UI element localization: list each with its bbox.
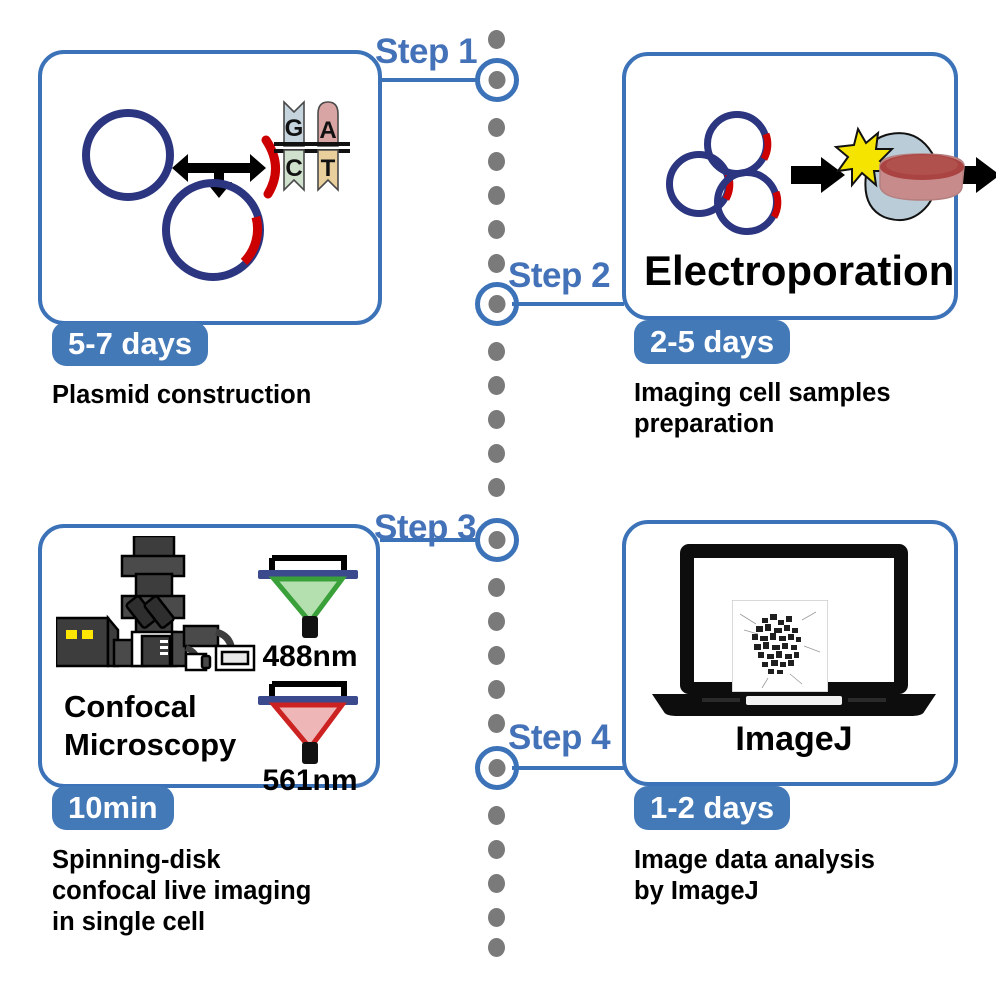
timeline-dot (488, 840, 505, 859)
step4-caption: Image data analysis by ImageJ (634, 845, 875, 907)
timeline-dot (488, 478, 505, 497)
step3-card-title: Confocal Microscopy (64, 688, 234, 764)
timeline-dot (488, 118, 505, 137)
microscope-icon (56, 536, 256, 681)
objective-lens-icon-488 (250, 550, 370, 646)
step-label-1: Step 1 (375, 32, 477, 72)
plasmid-circle-empty-icon (82, 109, 174, 201)
step4-card-title: ImageJ (644, 720, 944, 759)
timeline-dot (488, 612, 505, 631)
timeline-node-step3[interactable] (475, 518, 519, 562)
timeline-dot (488, 376, 505, 395)
connector-step4 (512, 766, 624, 770)
step-label-4: Step 4 (508, 718, 610, 758)
step3-caption: Spinning-disk confocal live imaging in s… (52, 845, 311, 938)
timeline-dot (488, 410, 505, 429)
timeline-dot (488, 714, 505, 733)
svg-text:G: G (285, 115, 304, 142)
timeline-dot (488, 578, 505, 597)
timeline-dot (488, 646, 505, 665)
dna-basepair-icon: G A C T (272, 94, 382, 202)
step3-duration-badge: 10min (52, 786, 174, 830)
timeline-axis (481, 30, 513, 960)
timeline-dot (488, 186, 505, 205)
timeline-dot (488, 908, 505, 927)
timeline-node-step1[interactable] (475, 58, 519, 102)
petri-dish-icon (876, 148, 976, 214)
microscopy-thumbnail-icon (732, 600, 828, 692)
step-label-3: Step 3 (374, 508, 476, 548)
workflow-diagram: Step 1 G A C T (0, 0, 996, 996)
timeline-dot (488, 874, 505, 893)
step4-duration-badge: 1-2 days (634, 786, 790, 830)
laser-561-label: 561nm (250, 764, 370, 798)
plasmid-insert-arc-icon (714, 169, 782, 237)
laser-488-label: 488nm (250, 640, 370, 674)
step2-card-title: Electroporation (644, 248, 944, 294)
timeline-dot (488, 30, 505, 49)
step-label-2: Step 2 (508, 256, 610, 296)
svg-text:A: A (319, 117, 336, 144)
objective-lens-icon-561 (250, 676, 370, 772)
timeline-dot (488, 806, 505, 825)
timeline-dot (488, 680, 505, 699)
plasmid-insert-arc-icon (162, 179, 266, 283)
svg-text:C: C (285, 155, 302, 182)
timeline-dot (488, 444, 505, 463)
step2-caption: Imaging cell samples preparation (634, 378, 891, 440)
step1-duration-badge: 5-7 days (52, 322, 208, 366)
timeline-dot (488, 342, 505, 361)
step2-card[interactable]: Electroporation (622, 52, 958, 320)
step1-caption: Plasmid construction (52, 380, 311, 411)
step3-card[interactable]: 488nm 561nm Confocal Microscopy (38, 524, 380, 788)
step2-duration-badge: 2-5 days (634, 320, 790, 364)
step4-card[interactable]: ImageJ (622, 520, 958, 786)
svg-text:T: T (321, 155, 336, 182)
step1-card[interactable]: G A C T (38, 50, 382, 325)
connector-step1 (382, 78, 480, 82)
connector-step2 (512, 302, 624, 306)
timeline-dot (488, 254, 505, 273)
timeline-dot (488, 220, 505, 239)
timeline-dot (488, 152, 505, 171)
timeline-dot (488, 938, 505, 957)
